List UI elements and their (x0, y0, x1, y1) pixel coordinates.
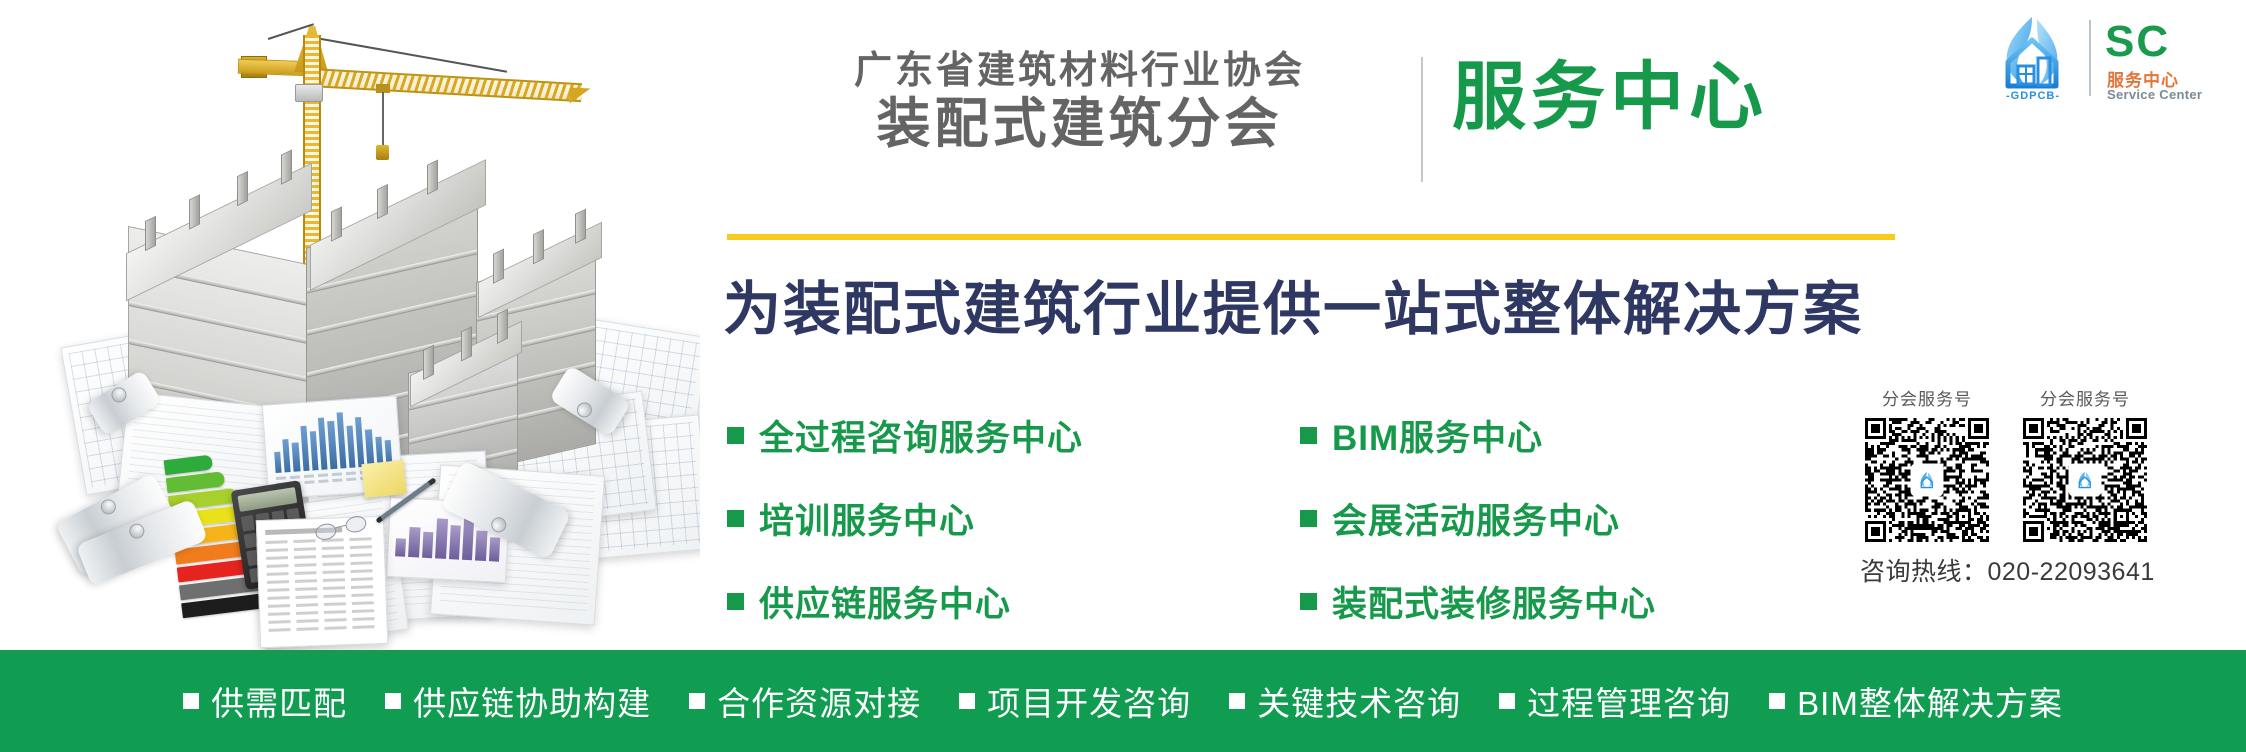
chart-bar (318, 417, 328, 469)
service-center-banner: 广东省建筑材料行业协会 装配式建筑分会 服务中心 为装配式建筑行业提供一站式整体… (0, 0, 2246, 752)
qr-caption: 分会服务号 (2023, 385, 2147, 410)
qr-center-logo-icon (2070, 465, 2100, 495)
logo-abbreviation: -GDPCB- (1985, 90, 2081, 102)
sc-service-center-logo: -GDPCB- SC 服务中心 Service Center (1985, 14, 2235, 106)
chart-bar (365, 430, 374, 467)
square-bullet-icon (1499, 693, 1515, 709)
bottom-bar-item[interactable]: 关键技术咨询 (1229, 677, 1461, 725)
qr-code-image[interactable] (2023, 418, 2147, 542)
qr-center-logo-icon (1912, 465, 1942, 495)
service-item[interactable]: 全过程咨询服务中心 (727, 410, 1083, 461)
header-vertical-divider (1421, 57, 1423, 182)
logo-english-label: Service Center (2107, 87, 2202, 102)
logo-divider (2089, 20, 2091, 96)
square-bullet-icon (385, 693, 401, 709)
chart-bar (489, 537, 501, 562)
chart-bar (355, 416, 365, 467)
gold-divider-rule (727, 234, 1895, 240)
service-list-right: BIM服务中心 会展活动服务中心 装配式装修服务中心 (1300, 410, 1656, 659)
square-bullet-icon (727, 593, 744, 610)
bottom-bar-label: 过程管理咨询 (1527, 677, 1731, 725)
bottom-bar-label: 供应链协助构建 (413, 677, 651, 725)
chart-bar (475, 530, 487, 561)
service-label: 会展活动服务中心 (1332, 493, 1620, 544)
bottom-service-bar: 供需匹配 供应链协助构建 合作资源对接 项目开发咨询 关键技术咨询 过程管理咨询… (0, 650, 2246, 752)
service-center-title: 服务中心 (1452, 58, 1768, 136)
chart-bar (300, 426, 309, 471)
qr-code-group: 分会服务号 分会服务号 (1865, 385, 2147, 542)
qr-code-item[interactable]: 分会服务号 (2023, 385, 2147, 542)
service-label: 装配式装修服务中心 (1332, 576, 1656, 627)
bottom-bar-item[interactable]: BIM整体解决方案 (1769, 677, 2063, 725)
chart-bar (408, 527, 420, 558)
qr-code-image[interactable] (1865, 418, 1989, 542)
chart-bar (395, 538, 406, 557)
chart-bar (346, 425, 355, 468)
bottom-bar-label: 项目开发咨询 (987, 677, 1191, 725)
house-flame-icon (1985, 14, 2081, 92)
bottom-bar-item[interactable]: 供需匹配 (183, 677, 347, 725)
service-item[interactable]: 培训服务中心 (727, 493, 1083, 544)
square-bullet-icon (689, 693, 705, 709)
bottom-bar-label: 供需匹配 (211, 677, 347, 725)
bottom-bar-item[interactable]: 供应链协助构建 (385, 677, 651, 725)
service-label: BIM服务中心 (1332, 410, 1543, 461)
crane-cab (295, 84, 323, 102)
square-bullet-icon (1300, 593, 1317, 610)
square-bullet-icon (1229, 693, 1245, 709)
service-list-left: 全过程咨询服务中心 培训服务中心 供应链服务中心 (727, 410, 1083, 659)
bottom-bar-item[interactable]: 合作资源对接 (689, 677, 921, 725)
square-bullet-icon (1769, 693, 1785, 709)
crane-jib-tip (570, 87, 591, 104)
crane-hook-line (382, 92, 384, 148)
bottom-bar-item[interactable]: 项目开发咨询 (959, 677, 1191, 725)
qr-code-item[interactable]: 分会服务号 (1865, 385, 1989, 542)
square-bullet-icon (1300, 510, 1317, 527)
chart-bar (449, 525, 461, 559)
crane-jib (309, 68, 582, 102)
chart-bar (310, 431, 319, 470)
service-label: 全过程咨询服务中心 (759, 410, 1083, 461)
hotline-text: 咨询热线：020-22093641 (1860, 552, 2155, 588)
bottom-bar-label: 合作资源对接 (717, 677, 921, 725)
association-name-line2: 装配式建筑分会 (854, 97, 1305, 151)
banner-slogan: 为装配式建筑行业提供一站式整体解决方案 (723, 262, 1863, 346)
chart-bar (435, 518, 447, 558)
square-bullet-icon (727, 510, 744, 527)
square-bullet-icon (183, 693, 199, 709)
square-bullet-icon (1300, 427, 1317, 444)
service-item[interactable]: 供应链服务中心 (727, 576, 1083, 627)
logo-initials: SC (2105, 20, 2170, 64)
qr-caption: 分会服务号 (1865, 385, 1989, 410)
bottom-bar-item[interactable]: 过程管理咨询 (1499, 677, 1731, 725)
chart-bar (336, 412, 346, 469)
square-bullet-icon (959, 693, 975, 709)
association-title: 广东省建筑材料行业协会 装配式建筑分会 (854, 52, 1305, 151)
crane-cable (310, 36, 507, 72)
service-label: 培训服务中心 (759, 493, 975, 544)
chart-bar (422, 532, 434, 559)
service-item[interactable]: BIM服务中心 (1300, 410, 1656, 461)
bottom-bar-label: 关键技术咨询 (1257, 677, 1461, 725)
bottom-bar-label: BIM整体解决方案 (1797, 677, 2063, 725)
service-label: 供应链服务中心 (759, 576, 1011, 627)
construction-site-illustration (10, 0, 700, 650)
chart-bar (328, 421, 338, 469)
crane-hook (376, 145, 389, 160)
service-item[interactable]: 会展活动服务中心 (1300, 493, 1656, 544)
service-item[interactable]: 装配式装修服务中心 (1300, 576, 1656, 627)
sticky-note (361, 460, 406, 498)
association-name-line1: 广东省建筑材料行业协会 (854, 52, 1305, 90)
square-bullet-icon (727, 427, 744, 444)
